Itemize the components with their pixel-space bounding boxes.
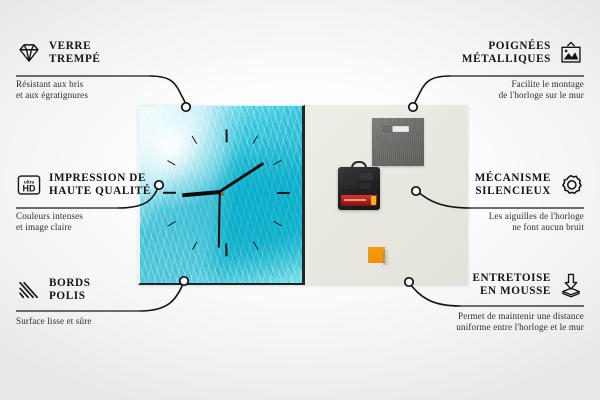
diamond-icon <box>16 40 42 66</box>
feature-title: VERRE <box>49 40 100 53</box>
feature-bords-polis: BORDS POLIS Surface lisse et sûre <box>16 277 166 327</box>
mechanism-detail <box>360 183 371 189</box>
feature-title: TREMPÉ <box>49 53 100 66</box>
feature-title: MÉTALLIQUES <box>462 53 551 66</box>
ultra-hd-large-text: HD <box>23 184 36 194</box>
feature-desc: Résistant aux bris <box>16 79 166 90</box>
gear-icon <box>558 172 584 198</box>
battery <box>341 195 377 206</box>
clock-tick <box>226 129 228 142</box>
clock-mechanism <box>338 167 380 210</box>
foam-shadow <box>383 250 390 265</box>
feature-entretoise-en-mousse: ENTRETOISE EN MOUSSE Permet de maintenir… <box>424 272 584 333</box>
metal-hanger-plate <box>372 118 424 166</box>
feature-desc: Les aiguilles de l'horloge <box>434 211 584 222</box>
ultra-hd-icon: ultra HD <box>16 172 42 198</box>
foam-spacer-arrow-icon <box>558 272 584 298</box>
product-photo <box>138 105 468 285</box>
picture-frame-hanger-icon <box>558 40 584 66</box>
mechanism-detail <box>343 174 356 185</box>
feature-title: POIGNÉES <box>462 40 551 53</box>
battery-terminal <box>371 196 376 205</box>
polished-edges-icon <box>16 277 42 303</box>
feature-title: POLIS <box>49 290 91 303</box>
feature-title: BORDS <box>49 277 91 290</box>
feature-desc: et image claire <box>16 222 168 233</box>
feature-title: EN MOUSSE <box>472 285 551 298</box>
feature-desc: ne font aucun bruit <box>434 222 584 233</box>
feature-impression-haute-qualite: ultra HD IMPRESSION DE HAUTE QUALITÉ Cou… <box>16 172 168 233</box>
feature-title: ENTRETOISE <box>472 272 551 285</box>
feature-desc: de l'horloge sur le mur <box>434 90 584 101</box>
mechanism-detail <box>359 173 373 180</box>
feature-title: HAUTE QUALITÉ <box>49 185 151 198</box>
feature-desc: et aux égratignures <box>16 90 166 101</box>
battery-stripe <box>344 199 366 201</box>
feature-title: MÉCANISME <box>475 172 551 185</box>
mechanism-loop <box>351 161 367 170</box>
feature-desc: Couleurs intenses <box>16 211 168 222</box>
feature-desc: Facilite le montage <box>434 79 584 90</box>
feature-title: SILENCIEUX <box>475 185 551 198</box>
feature-mecanisme-silencieux: MÉCANISME SILENCIEUX Les aiguilles de l'… <box>434 172 584 233</box>
infographic-canvas: VERRE TREMPÉ Résistant aux bris et aux é… <box>0 0 600 400</box>
feature-title: IMPRESSION DE <box>49 172 151 185</box>
feature-desc: uniforme entre l'horloge et le mur <box>424 322 584 333</box>
clock-tick <box>277 192 290 194</box>
foam-spacer <box>368 247 385 263</box>
feature-desc: Surface lisse et sûre <box>16 316 166 327</box>
hanger-slot <box>383 126 409 132</box>
feature-verre-trempe: VERRE TREMPÉ Résistant aux bris et aux é… <box>16 40 166 101</box>
feature-poignees-metalliques: POIGNÉES MÉTALLIQUES Facilite le montage… <box>434 40 584 101</box>
feature-desc: Permet de maintenir une distance <box>424 311 584 322</box>
clock-tick <box>226 243 228 256</box>
